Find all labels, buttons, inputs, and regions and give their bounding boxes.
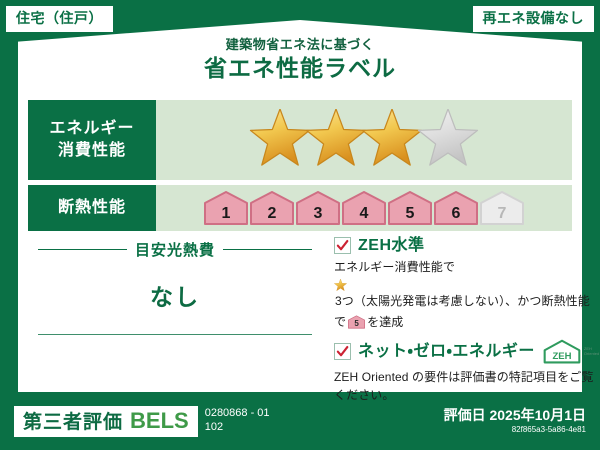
zeh-criterion-description: エネルギー消費性能で3つ（太陽光発電は考慮しない）、かつ断熱性能で5を達成 [334,258,599,331]
energy-performance-label: 住宅（住戸） 再エネ設備なし 建築物省エネ法に基づく 省エネ性能ラベル エネルギ… [0,0,600,450]
insulation-level-6: 6 [434,191,478,225]
badge-renewable-equipment: 再エネ設備なし [473,6,595,32]
insulation-level-number: 3 [296,206,340,222]
bels-japanese-text: 第三者評価 [23,413,123,432]
cost-rule-right [223,249,312,250]
evaluation-info: 評価日 2025年10月1日 82f865a3-5a86-4e81 [444,407,586,435]
cost-bottom-divider [38,334,312,335]
energy-label-line2: 消費性能 [58,140,126,162]
certificate-id: 0280868 - 01 102 [205,407,270,435]
certificate-id-line1: 0280868 - 01 [205,407,270,421]
insulation-level-number: 4 [342,206,386,222]
certificate-id-line2: 102 [205,421,270,435]
zeh-checkbox[interactable] [334,237,351,254]
insulation-level-number: 2 [250,206,294,222]
lower-section: 目安光熱費 なし ZEH水準エネルギー消費性能で3つ（太陽光発電は考慮しない）、… [28,237,572,412]
zeh-checkbox[interactable] [334,343,351,360]
inline-star-icon [334,279,599,292]
utility-cost-value: なし [28,260,322,334]
insulation-level-number: 1 [204,206,248,222]
utility-cost-section: 目安光熱費 なし [28,237,328,412]
bels-english-text: BELS [130,410,189,432]
insulation-label-text: 断熱性能 [58,197,126,219]
inline-insulation-number: 5 [348,320,365,328]
zeh-criterion-header: ネット・ゼロ・エネルギーZEHZEHOriented [334,339,599,365]
insulation-level-number: 7 [480,206,524,222]
header-text-group: 建築物省エネ法に基づく 省エネ性能ラベル [0,38,600,82]
zeh-logo-caption: ZEHOriented [584,347,599,356]
zeh-criteria-list: ZEH水準エネルギー消費性能で3つ（太陽光発電は考慮しない）、かつ断熱性能で5を… [328,237,599,412]
zeh-criterion-title: ZEH水準 [358,237,425,255]
insulation-level-2: 2 [250,191,294,225]
insulation-performance-label: 断熱性能 [28,185,156,231]
insulation-level-number: 5 [388,206,432,222]
evaluation-date: 評価日 2025年10月1日 [444,407,586,424]
insulation-level-scale: 1234567 [204,191,524,225]
insulation-level-4: 4 [342,191,386,225]
zeh-criterion-title: ネット・ゼロ・エネルギー [358,343,535,361]
bels-logo: 第三者評価 BELS [14,406,198,437]
insulation-level-number: 6 [434,206,478,222]
insulation-level-3: 3 [296,191,340,225]
star-filled-icon [305,109,367,171]
zeh-criterion-1: ZEH水準エネルギー消費性能で3つ（太陽光発電は考慮しない）、かつ断熱性能で5を… [334,237,599,331]
badge-building-type: 住宅（住戸） [6,6,113,32]
header-subtitle: 建築物省エネ法に基づく [0,38,600,52]
zeh-logo-icon: ZEHZEHOriented [542,339,599,365]
svg-text:ZEH: ZEH [552,351,571,362]
star-empty-icon [417,109,479,171]
energy-performance-label: エネルギー 消費性能 [28,100,156,180]
zeh-criterion-header: ZEH水準 [334,237,599,255]
utility-cost-header: 目安光熱費 [28,237,322,260]
energy-performance-value [156,100,572,180]
utility-cost-title: 目安光熱費 [135,239,215,260]
energy-label-line1: エネルギー [49,118,134,140]
inline-insulation-badge: 5 [348,315,365,329]
cost-rule-left [38,249,127,250]
star-filled-icon [249,109,311,171]
insulation-level-5: 5 [388,191,432,225]
evaluation-hash: 82f865a3-5a86-4e81 [444,425,586,435]
insulation-level-7: 7 [480,191,524,225]
insulation-performance-row: 断熱性能 1234567 [28,185,572,231]
page-title: 省エネ性能ラベル [0,55,600,81]
insulation-performance-value: 1234567 [156,185,572,231]
label-body-panel: エネルギー 消費性能 断熱性能 1234567 目安光熱費 [18,92,582,392]
label-footer: 第三者評価 BELS 0280868 - 01 102 評価日 2025年10月… [0,392,600,450]
insulation-level-1: 1 [204,191,248,225]
star-filled-icon [361,109,423,171]
star-rating [249,109,479,171]
energy-performance-row: エネルギー 消費性能 [28,100,572,180]
